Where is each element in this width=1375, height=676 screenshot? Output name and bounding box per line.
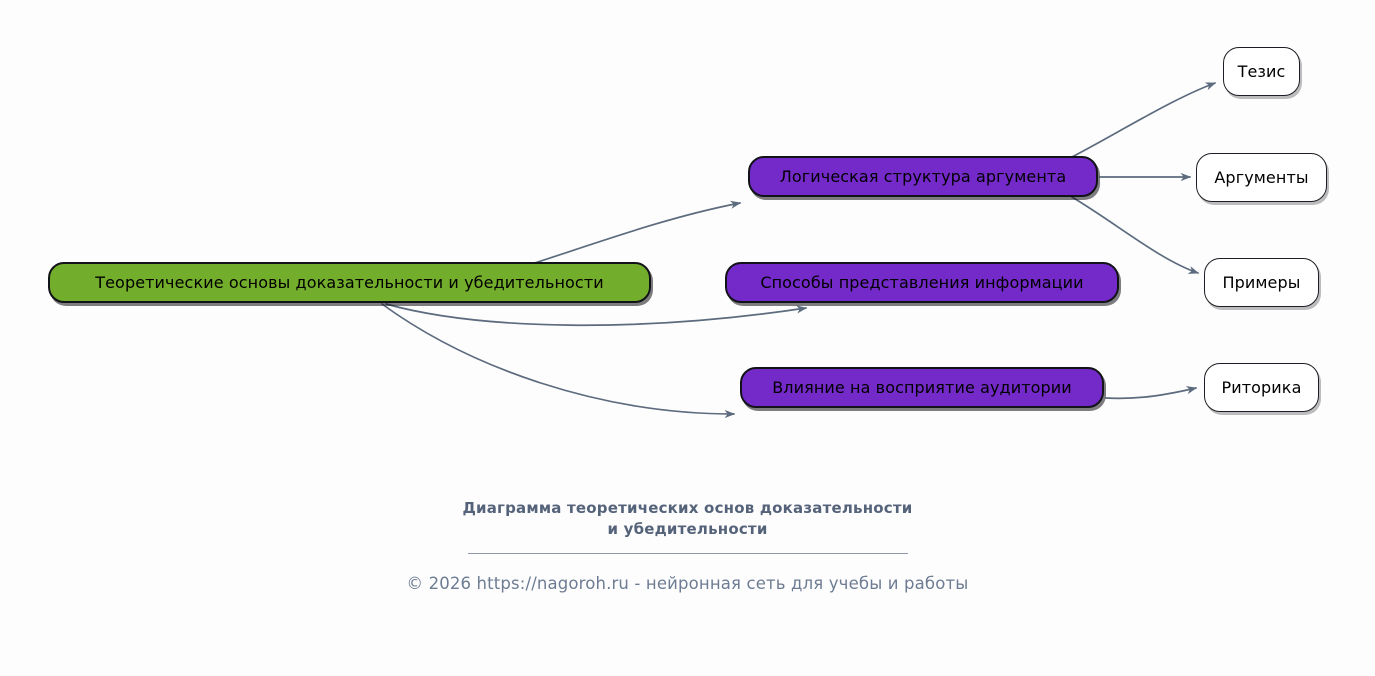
node-leaf-rhetoric[interactable]: Риторика [1204,363,1319,412]
edge-root-branch2 [386,304,806,325]
node-label: Теоретические основы доказательности и у… [95,275,604,291]
caption-title-line-1: Диаграмма теоретических основ доказатель… [0,498,1375,519]
node-leaf-arguments[interactable]: Аргументы [1196,153,1327,202]
node-root-theoretical-foundations[interactable]: Теоретические основы доказательности и у… [48,262,651,303]
diagram-caption: Диаграмма теоретических основ доказатель… [0,498,1375,593]
caption-credit: © 2026 https://nagoroh.ru - нейронная се… [0,574,1375,593]
node-label: Примеры [1223,275,1301,291]
node-label: Влияние на восприятие аудитории [772,380,1072,396]
edge-branch1-tezis [1070,83,1215,158]
node-influence-on-audience-perception[interactable]: Влияние на восприятие аудитории [740,367,1104,408]
caption-divider [468,553,908,554]
node-ways-of-presenting-information[interactable]: Способы представления информации [725,262,1119,303]
node-label: Тезис [1238,64,1286,80]
node-leaf-examples[interactable]: Примеры [1204,258,1319,307]
node-logical-structure-of-argument[interactable]: Логическая структура аргумента [748,156,1098,197]
node-label: Аргументы [1214,170,1308,186]
edge-branch3-ritorika [1106,388,1196,398]
node-label: Способы представления информации [760,275,1083,291]
caption-title: Диаграмма теоретических основ доказатель… [0,498,1375,540]
diagram-canvas: Теоретические основы доказательности и у… [0,0,1375,676]
edge-root-branch3 [382,304,734,414]
node-label: Логическая структура аргумента [780,169,1066,185]
caption-title-line-2: и убедительности [0,519,1375,540]
node-leaf-thesis[interactable]: Тезис [1223,47,1300,96]
node-label: Риторика [1222,380,1302,396]
